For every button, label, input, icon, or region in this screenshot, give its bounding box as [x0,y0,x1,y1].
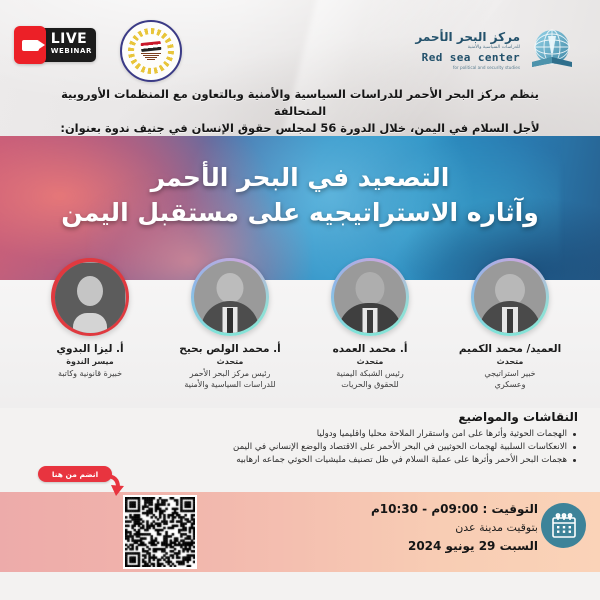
rsc-english-name: Red sea center [415,51,520,64]
list-item: الانعكاسات السلبية لهجمات الحوثيين في ال… [22,441,578,454]
qr-code[interactable] [123,495,197,569]
speaker-card-1: العميد/ محمد الكميم متحدث خبير استراتيجي… [440,258,580,390]
announcement-text: ينظم مركز البحر الأحمر للدراسات السياسية… [40,86,560,137]
title-line-2: وآثاره الاستراتيجيه على مستقبل اليمن [0,195,600,230]
poster-header: LIVE WEBINAR [0,0,600,136]
speaker-role: متحدث [497,356,524,368]
speaker-card-4: أ. ليزا البدوي ميسر الندوة خبيرة قانونية… [20,258,160,379]
speakers-row: العميد/ محمد الكميم متحدث خبير استراتيجي… [0,258,600,408]
arrow-down-icon [104,474,124,496]
avatar-ring [471,258,549,336]
speaker-desc-line-1: رئيس مركز البحر الأحمر [190,368,271,379]
timezone-label: بتوقيت مدينة عدن [371,519,538,537]
red-sea-center-logo: مركز البحر الأحمر للدراسات السياسية والأ… [415,22,578,80]
topics-list: الهجمات الحوثية وأثرها على امن واستقرار … [22,428,578,467]
speaker-name: أ. ليزا البدوي [56,343,123,356]
join-here-label: انضم من هنا [52,470,98,479]
webinar-label: WEBINAR [51,46,92,57]
webinar-poster: LIVE WEBINAR [0,0,600,600]
topics-heading: النقاشات والمواضيع [22,410,578,424]
date-label: السبت 29 يونيو 2024 [371,537,538,556]
title-line-1: التصعيد في البحر الأحمر [0,160,600,195]
live-label: LIVE [51,33,92,46]
speaker-desc-line-2: وعسكري [495,379,526,390]
calendar-icon [541,503,586,548]
speaker-name: أ. محمد الولص بحيح [179,343,280,356]
rsc-arabic-sub: للدراسات السياسية والأمنية [415,44,520,51]
speaker-name: أ. محمد العمده [333,343,408,356]
announcement-line-1: ينظم مركز البحر الأحمر للدراسات السياسية… [40,86,560,120]
avatar [474,261,546,333]
speaker-desc-line-2: للحقوق والحريات [341,379,398,390]
speaker-desc-line-1: خبيرة قانونية وكاتبة [58,368,122,379]
rsc-english-sub: for political and security studies [415,64,520,71]
speaker-desc-line-2: للدراسات السياسية والأمنية [184,379,275,390]
page-title: التصعيد في البحر الأحمر وآثاره الاستراتي… [0,160,600,230]
speaker-card-3: أ. محمد الولص بحيح متحدث رئيس مركز البحر… [160,258,300,390]
list-item: الهجمات الحوثية وأثرها على امن واستقرار … [22,428,578,441]
globe-book-icon [526,26,578,76]
speaker-role: متحدث [217,356,244,368]
announcement-line-2: لأجل السلام في اليمن، خلال الدورة 56 لمج… [40,120,560,137]
yemen-national-emblem-icon [120,20,182,82]
rsc-arabic-name: مركز البحر الأحمر [415,31,520,44]
speaker-role: ميسر الندوة [66,356,113,368]
speaker-name: العميد/ محمد الكميم [459,343,561,356]
speaker-role: متحدث [357,356,384,368]
avatar [334,261,406,333]
avatar-ring [51,258,129,336]
avatar [55,262,126,333]
avatar-ring [331,258,409,336]
video-camera-icon [14,26,46,64]
schedule-info: التوقيت : 09:00م - 10:30م بتوقيت مدينة ع… [371,500,538,556]
speaker-desc-line-1: رئيس الشبكة اليمنية [336,368,404,379]
speaker-card-2: أ. محمد العمده متحدث رئيس الشبكة اليمنية… [300,258,440,390]
join-here-callout: انضم من هنا [38,466,124,486]
topics-section: النقاشات والمواضيع الهجمات الحوثية وأثره… [22,410,578,467]
avatar-ring [191,258,269,336]
join-here-bubble: انضم من هنا [38,466,112,482]
footer-spacer [0,572,600,600]
time-label: التوقيت : 09:00م - 10:30م [371,500,538,519]
speaker-desc-line-1: خبير استراتيجي [484,368,535,379]
avatar [194,261,266,333]
